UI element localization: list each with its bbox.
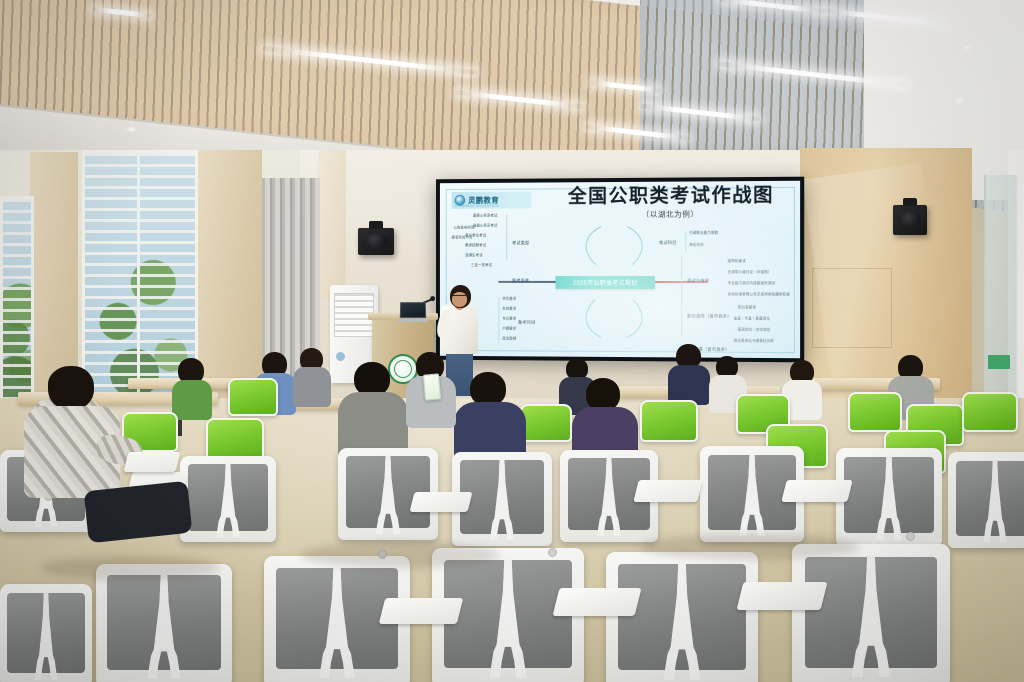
- training-chair[interactable]: [96, 564, 232, 682]
- mindmap-connector: [506, 214, 507, 260]
- mindmap-node: 国家公务员考试: [473, 213, 498, 218]
- chair-back: [180, 456, 276, 542]
- chair-tablet-arm[interactable]: [633, 480, 702, 502]
- torso: [172, 380, 212, 420]
- mindmap-node: 报考条件: [512, 278, 529, 284]
- window-right: [128, 150, 134, 156]
- training-chair[interactable]: [0, 584, 92, 682]
- wall-speaker-right: [893, 205, 927, 235]
- mindmap-node: 公告发布时间: [454, 225, 475, 230]
- chair-tablet-arm[interactable]: [124, 452, 181, 472]
- conference-chair-green[interactable]: [520, 404, 572, 442]
- training-chair[interactable]: [606, 552, 758, 682]
- laptop-screen: [400, 302, 426, 318]
- wall-pillar: [196, 150, 262, 410]
- wall-speaker-left: [358, 228, 394, 255]
- chair-tablet-arm[interactable]: [553, 588, 642, 616]
- projection-screen[interactable]: 灵鹏教育 LINGPENG EDUCATION 全国公职类考试作战图 （以湖北为…: [440, 181, 800, 358]
- mindmap-connector: [498, 298, 499, 344]
- torso: [668, 365, 710, 405]
- window-mullion: [85, 241, 195, 244]
- mindmap-node: 职位选择（省市县乡）: [687, 313, 731, 319]
- legs: [84, 481, 193, 544]
- mindmap-node: 省级公务员考试: [473, 222, 498, 227]
- floor-shadow: [300, 542, 500, 568]
- mindmap-node: 年龄要求: [502, 306, 516, 311]
- training-chair[interactable]: [792, 544, 950, 682]
- mindmap-node: 申论写作: [689, 242, 704, 247]
- chair-tablet-arm[interactable]: [410, 492, 473, 512]
- slide-title: 全国公职类考试作战图: [546, 186, 797, 207]
- mindmap-node: 笔试科目: [659, 240, 677, 246]
- conference-chair-green[interactable]: [206, 418, 264, 460]
- mindmap-node: 基层岗位 / 定向岗位: [738, 327, 771, 332]
- recessed-downlight: [955, 98, 964, 103]
- chair-back: [836, 448, 942, 546]
- chair-back: [792, 544, 950, 682]
- chair-back: [96, 564, 232, 682]
- chair-back: [606, 552, 758, 682]
- training-chair[interactable]: [948, 452, 1024, 548]
- mindmap-node: 行政职业能力测验: [689, 230, 718, 235]
- floor-shadow: [640, 534, 860, 560]
- recessed-downlight: [963, 45, 972, 50]
- wall-pillar: [318, 150, 346, 300]
- mindmap-node: 专业能力测试与技能操作测试: [728, 280, 776, 285]
- ac-brand-badge: [336, 352, 345, 361]
- presenter-laptop: [398, 302, 428, 322]
- mindmap-node: 备考时间: [518, 320, 535, 326]
- eyeglasses-icon: [452, 295, 467, 298]
- chair-tablet-arm[interactable]: [737, 582, 828, 610]
- chair-caster: [548, 548, 557, 557]
- mindmap-node: 三支一扶考试: [471, 262, 492, 267]
- chair-caster: [906, 532, 915, 541]
- mindmap-node: 结构化面试: [728, 258, 746, 263]
- mindmap-node: 学历要求: [502, 296, 516, 301]
- projection-screen-frame: 灵鹏教育 LINGPENG EDUCATION 全国公职类考试作战图 （以湖北为…: [436, 177, 804, 363]
- floor-shadow: [40, 556, 220, 580]
- conference-chair-green[interactable]: [228, 378, 278, 416]
- window-louvers: [3, 199, 31, 413]
- door-green-sticker: [988, 355, 1010, 369]
- mindmap-diagram: 2025年公职类考试规划 考试类型 国家公务员考试 省级公务员考试 事业单位考试…: [440, 215, 800, 358]
- window-left: [0, 196, 34, 416]
- recessed-downlight: [127, 127, 136, 132]
- mindmap-node: 岗位竞争比与报录比分析: [734, 338, 774, 343]
- mindmap-connector: [681, 256, 682, 336]
- head: [48, 366, 94, 410]
- mindmap-node: 职位表解读: [738, 304, 756, 309]
- mindmap-node: 政治面貌: [502, 335, 516, 340]
- torso: [293, 367, 331, 407]
- mindmap-node: 报名时间节点: [452, 234, 473, 239]
- brand-logo-subtext: LINGPENG EDUCATION: [455, 204, 499, 208]
- head: [354, 362, 390, 396]
- classroom-scene: 灵鹏教育 LINGPENG EDUCATION 全国公职类考试作战图 （以湖北为…: [0, 0, 1024, 682]
- mindmap-node: 面试与体检: [687, 278, 709, 284]
- mindmap-node: 考试类型: [512, 240, 529, 246]
- mindmap-node: 体检标准参照公务员录用体检通用标准: [728, 291, 790, 296]
- mindmap-connector: [685, 232, 686, 252]
- mindmap-node: 省直 / 市直 / 县直岗位: [734, 315, 770, 320]
- chair-back: [948, 452, 1024, 548]
- conference-chair-green[interactable]: [962, 392, 1018, 432]
- mindmap-node: 选调生考试: [465, 252, 483, 257]
- training-chair[interactable]: [836, 448, 942, 546]
- laptop-base: [398, 319, 428, 322]
- mindmap-node: 教师招聘考试: [465, 242, 486, 247]
- training-chair[interactable]: [180, 456, 276, 542]
- mindmap-node: 户籍要求: [502, 325, 516, 330]
- window-mullion: [137, 153, 140, 412]
- conference-chair-green[interactable]: [848, 392, 902, 432]
- mindmap-node: 无领导小组讨论（半结构）: [728, 269, 772, 274]
- head: [470, 372, 506, 406]
- smartphone-icon: [423, 373, 441, 400]
- chair-tablet-arm[interactable]: [379, 598, 463, 624]
- chair-tablet-arm[interactable]: [781, 480, 852, 502]
- mindmap-node: 专业要求: [502, 316, 516, 321]
- conference-chair-green[interactable]: [640, 400, 698, 442]
- chair-back: [0, 584, 92, 682]
